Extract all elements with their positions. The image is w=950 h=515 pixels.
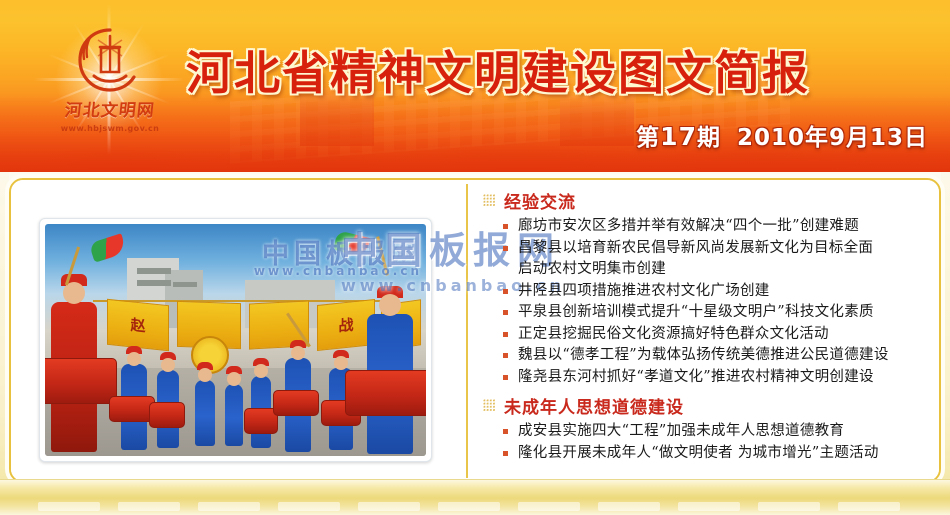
feature-photo: 赵 战 国 bbox=[45, 224, 426, 456]
list-item[interactable]: 平泉县创新培训模式提升“十星级文明户”科技文化素质 bbox=[501, 302, 937, 323]
list-item[interactable]: 昌黎县以培育新农民倡导新风尚发展新文化为目标全面 bbox=[501, 238, 937, 259]
issue-date: 2010年9月13日 bbox=[737, 125, 928, 151]
section-items: 成安县实施四大“工程”加强未成年人思想道德教育 隆化县开展未成年人“做文明使者 … bbox=[481, 421, 937, 463]
dot-grid-icon bbox=[483, 399, 496, 412]
list-item[interactable]: 隆尧县东河村抓好“孝道文化”推进农村精神文明创建设 bbox=[501, 367, 937, 388]
list-item[interactable]: 成安县实施四大“工程”加强未成年人思想道德教育 bbox=[501, 421, 937, 442]
newsletter-page: 河北文明网 www.hbjswm.gov.cn 河北省精神文明建设图文简报 第1… bbox=[0, 0, 950, 515]
hebei-civilization-net-emblem-icon bbox=[74, 26, 146, 94]
issue-number: 17 bbox=[660, 122, 697, 151]
logo-name: 河北文明网 bbox=[39, 96, 182, 121]
photo-watermark-url: www.cnbanbao.cn bbox=[254, 264, 422, 278]
list-item-continuation[interactable]: 启动农村文明集市创建 bbox=[501, 259, 937, 280]
section-minor-moral-education: 未成年人思想道德建设 成安县实施四大“工程”加强未成年人思想道德教育 隆化县开展… bbox=[481, 391, 937, 463]
page-title: 河北省精神文明建设图文简报 bbox=[186, 37, 810, 103]
footer-bar bbox=[0, 479, 950, 515]
article-list: 经验交流 廊坊市安次区多措并举有效解决“四个一批”创建难题 昌黎县以培育新农民倡… bbox=[481, 186, 937, 476]
right-edge-pad bbox=[941, 172, 950, 515]
list-item[interactable]: 魏县以“德孝工程”为载体弘扬传统美德推进公民道德建设 bbox=[501, 345, 937, 366]
logo-url: www.hbjswm.gov.cn bbox=[40, 124, 180, 133]
content-frame: 赵 战 国 bbox=[9, 178, 941, 483]
list-item[interactable]: 正定县挖掘民俗文化资源搞好特色群众文化活动 bbox=[501, 324, 937, 345]
content-frame-inner: 赵 战 国 bbox=[11, 180, 939, 481]
section-header: 未成年人思想道德建设 bbox=[481, 391, 937, 421]
section-experience-exchange: 经验交流 廊坊市安次区多措并举有效解决“四个一批”创建难题 昌黎县以培育新农民倡… bbox=[481, 186, 937, 387]
dot-grid-icon bbox=[483, 194, 496, 207]
section-title: 未成年人思想道德建设 bbox=[504, 393, 684, 418]
issue-and-date: 第17期2010年9月13日 bbox=[636, 118, 928, 152]
section-items: 廊坊市安次区多措并举有效解决“四个一批”创建难题 昌黎县以培育新农民倡导新风尚发… bbox=[481, 216, 937, 387]
list-item[interactable]: 廊坊市安次区多措并举有效解决“四个一批”创建难题 bbox=[501, 216, 937, 237]
section-title: 经验交流 bbox=[504, 188, 576, 213]
list-item[interactable]: 井陉县四项措施推进农村文化广场创建 bbox=[501, 281, 937, 302]
column-divider bbox=[466, 184, 468, 478]
section-header: 经验交流 bbox=[481, 186, 937, 216]
issue-label: 第 bbox=[636, 125, 660, 151]
site-logo[interactable]: 河北文明网 www.hbjswm.gov.cn bbox=[40, 22, 180, 138]
feature-photo-frame[interactable]: 赵 战 国 bbox=[39, 218, 432, 462]
page-header: 河北文明网 www.hbjswm.gov.cn 河北省精神文明建设图文简报 第1… bbox=[0, 0, 950, 172]
list-item[interactable]: 隆化县开展未成年人“做文明使者 为城市增光”主题活动 bbox=[501, 443, 937, 464]
left-edge-pad bbox=[0, 172, 9, 515]
issue-unit: 期 bbox=[697, 125, 721, 151]
